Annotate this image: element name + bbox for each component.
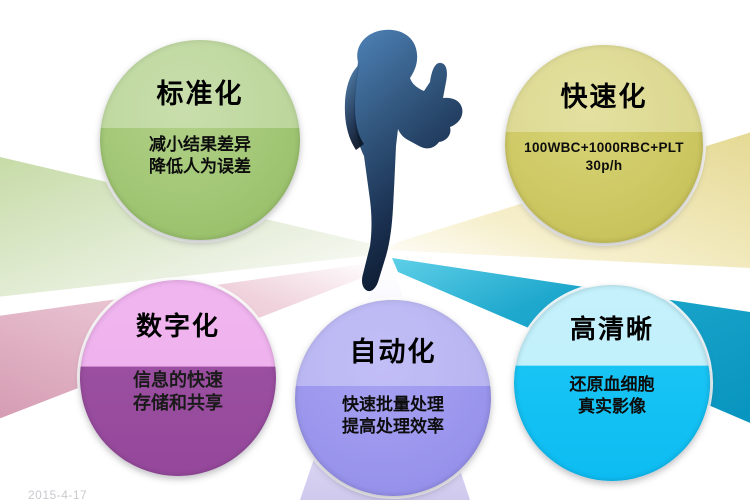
footer-date: 2015-4-17: [28, 488, 87, 500]
bubble-body: 信息的快速 存储和共享: [96, 369, 261, 417]
bubble-title: 快速化: [505, 83, 703, 113]
bubble-body: 减小结果差异 降低人为误差: [116, 134, 284, 179]
bubble-title: 标准化: [100, 80, 300, 110]
bubble-title: 高清晰: [514, 315, 710, 344]
bubble-digitization[interactable]: 数字化 信息的快速 存储和共享: [80, 280, 276, 476]
bubble-automation[interactable]: 自动化 快速批量处理 提高处理效率: [295, 300, 491, 496]
bubble-title: 自动化: [295, 338, 491, 368]
bubble-standardization[interactable]: 标准化 减小结果差异 降低人为误差: [100, 40, 300, 240]
bubble-body: 100WBC+1000RBC+PLT 30p/h: [521, 139, 687, 175]
bubble-title: 数字化: [80, 312, 276, 341]
center-figure: [300, 18, 490, 298]
bubble-body: 快速批量处理 提高处理效率: [311, 394, 476, 439]
bubble-clarity[interactable]: 高清晰 还原血细胞 真实影像: [514, 285, 710, 481]
slide-canvas: 标准化 减小结果差异 降低人为误差 快速化 100WBC+1000RBC+PLT…: [0, 0, 750, 500]
thumbs-up-person-silhouette-icon: [300, 18, 490, 298]
bubble-body: 还原血细胞 真实影像: [530, 374, 695, 419]
bubble-speed[interactable]: 快速化 100WBC+1000RBC+PLT 30p/h: [505, 45, 703, 243]
